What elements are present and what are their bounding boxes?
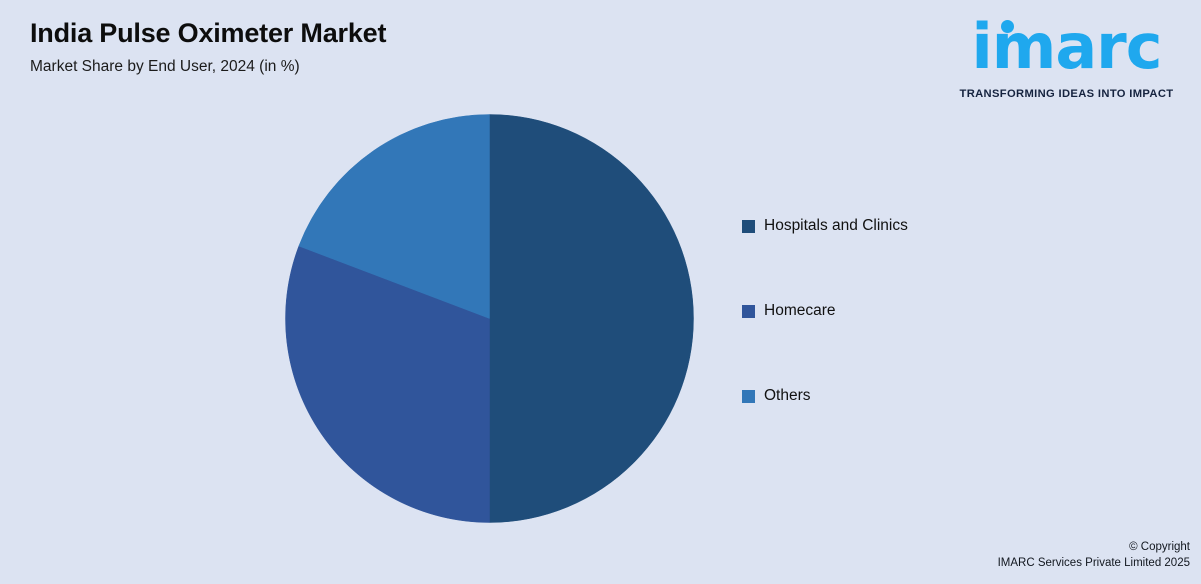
legend-item[interactable]: Others <box>742 376 1072 416</box>
chart-subtitle: Market Share by End User, 2024 (in %) <box>30 58 730 77</box>
legend-item-label: Homecare <box>764 303 836 319</box>
legend-swatch-icon <box>742 220 755 233</box>
logo-wordmark: imarc <box>944 16 1189 78</box>
chart-canvas: India Pulse Oximeter Market Market Share… <box>0 0 1201 584</box>
pie-slice-group <box>286 115 694 523</box>
legend-swatch-icon <box>742 305 755 318</box>
legend-item-label: Hospitals and Clinics <box>764 218 908 234</box>
logo-mark: imarc <box>944 14 1189 86</box>
copyright-line: © Copyright <box>998 539 1190 556</box>
header-block: India Pulse Oximeter Market Market Share… <box>30 18 730 77</box>
footer-copyright: © Copyright IMARC Services Private Limit… <box>998 539 1190 572</box>
legend-item-label: Others <box>764 388 811 404</box>
pie-slice[interactable] <box>490 115 694 523</box>
logo-dot-icon <box>1001 20 1014 33</box>
imarc-logo: imarc TRANSFORMING IDEAS INTO IMPACT <box>944 14 1189 114</box>
legend-item[interactable]: Hospitals and Clinics <box>742 206 1072 246</box>
legend-swatch-icon <box>742 390 755 403</box>
legend-item[interactable]: Homecare <box>742 291 1072 331</box>
logo-tagline: TRANSFORMING IDEAS INTO IMPACT <box>944 88 1189 100</box>
pie-chart-svg <box>285 114 694 523</box>
chart-legend: Hospitals and ClinicsHomecareOthers <box>742 206 1072 416</box>
page-title: India Pulse Oximeter Market <box>30 18 730 49</box>
pie-chart <box>285 114 694 523</box>
company-line: IMARC Services Private Limited 2025 <box>998 555 1190 572</box>
